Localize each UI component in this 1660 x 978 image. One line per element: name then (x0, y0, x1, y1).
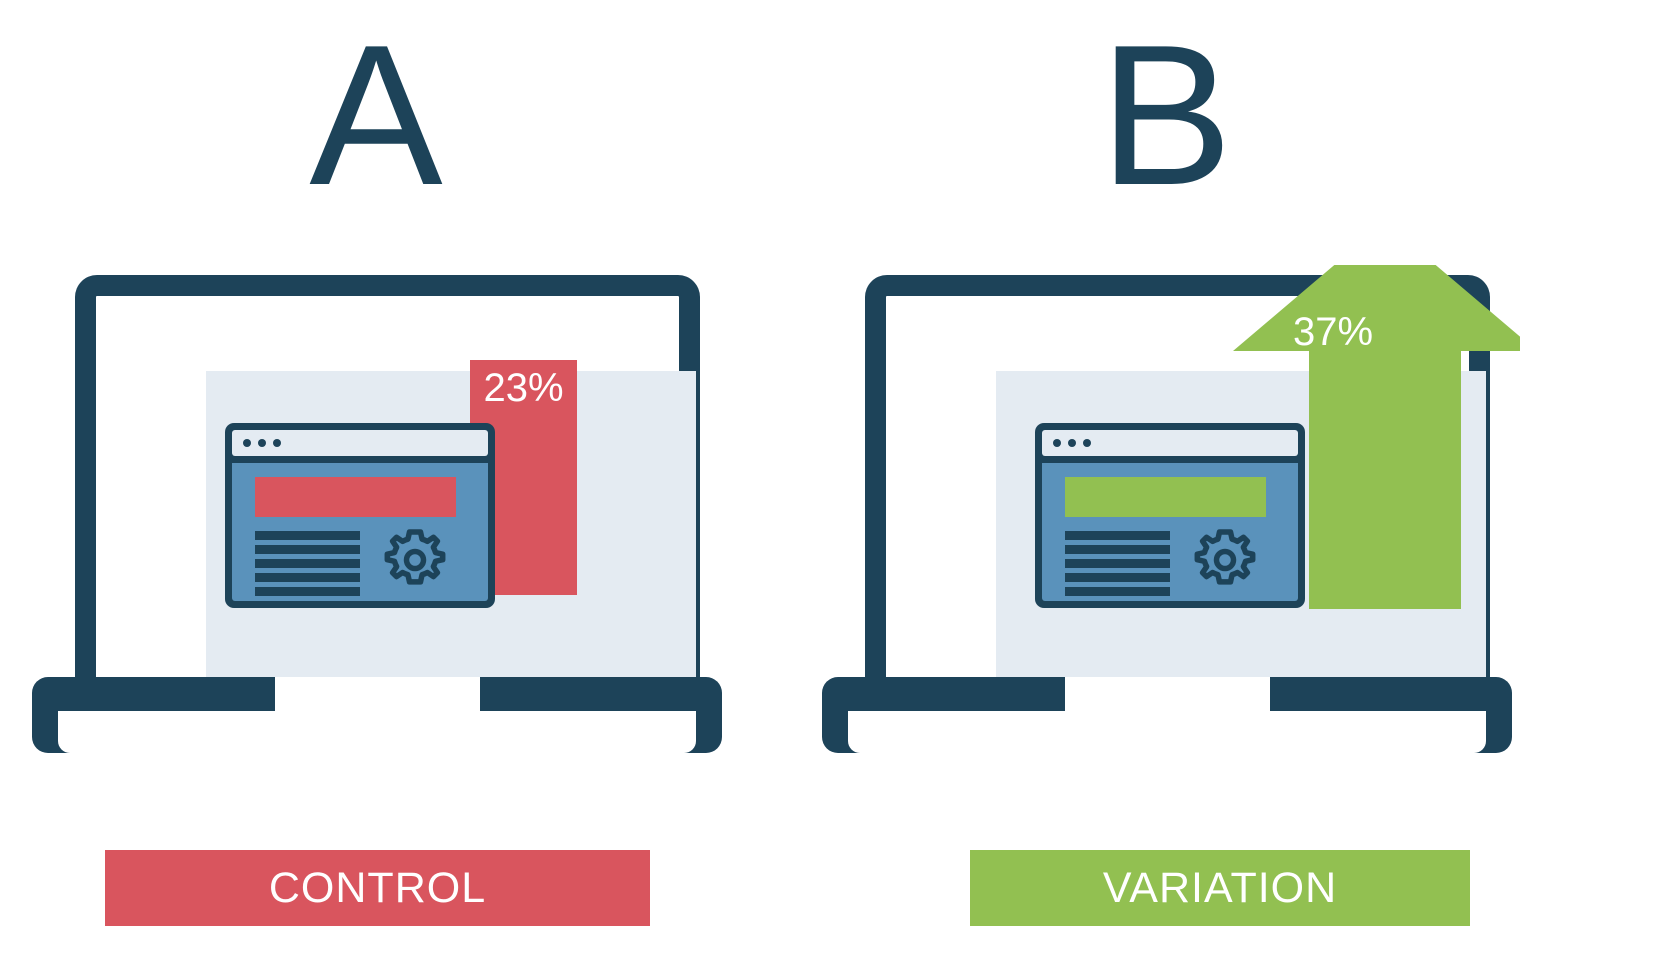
gear-icon (382, 527, 448, 598)
laptop-control: 23% (30, 265, 730, 765)
panel-letter-b: B (1035, 16, 1295, 216)
browser-mockup-variation (1035, 423, 1305, 608)
laptop-variation: 37% (820, 265, 1520, 765)
metric-value-variation: 37% (1263, 310, 1403, 355)
banner-control: CONTROL (105, 850, 650, 926)
panel-letter-a: A (245, 16, 505, 216)
browser-titlebar (1042, 430, 1298, 456)
browser-mockup-control (225, 423, 495, 608)
browser-titlebar (232, 430, 488, 456)
laptop-base-inner (848, 711, 1486, 753)
ab-test-illustration: A B 23% (0, 0, 1660, 978)
window-dots-icon (1053, 439, 1091, 447)
hero-banner-green (1065, 477, 1266, 517)
hero-banner-red (255, 477, 456, 517)
metric-value-control: 23% (470, 366, 577, 411)
browser-content (1042, 463, 1298, 601)
gear-icon (1192, 527, 1258, 598)
content-text-lines (1065, 531, 1170, 596)
banner-variation-label: VARIATION (1103, 864, 1337, 913)
banner-variation: VARIATION (970, 850, 1470, 926)
laptop-base-inner (58, 711, 696, 753)
banner-control-label: CONTROL (269, 864, 486, 913)
window-dots-icon (243, 439, 281, 447)
browser-content (232, 463, 488, 601)
content-text-lines (255, 531, 360, 596)
